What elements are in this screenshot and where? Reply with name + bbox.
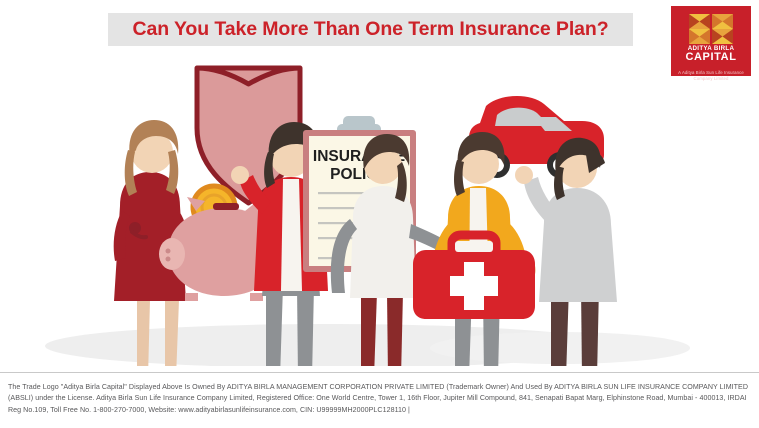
illustration-stage: INSURANCE POLICY [0,46,759,366]
page-title: Can You Take More Than One Term Insuranc… [132,18,608,41]
brand-sun-mark-icon [689,14,733,44]
footer-divider [0,372,759,373]
poster-canvas: Can You Take More Than One Term Insuranc… [0,0,759,428]
title-banner: Can You Take More Than One Term Insuranc… [108,13,633,46]
legal-disclaimer: The Trade Logo "Aditya Birla Capital" Di… [8,382,752,416]
